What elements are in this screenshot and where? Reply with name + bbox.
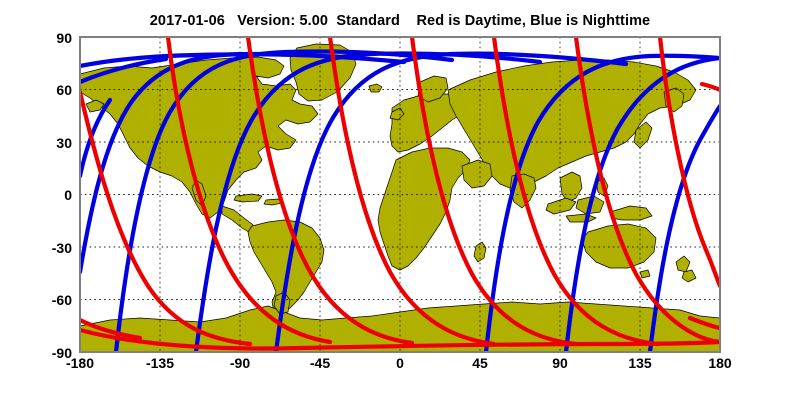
xtick--180: -180	[54, 355, 106, 371]
xtick--45: -45	[294, 355, 346, 371]
xtick-180: 180	[694, 355, 746, 371]
ytick--30: -30	[18, 240, 72, 256]
world-terminator-map	[0, 0, 800, 400]
xtick--90: -90	[214, 355, 266, 371]
xtick-135: 135	[614, 355, 666, 371]
ytick-60: 60	[18, 82, 72, 98]
ytick-30: 30	[18, 135, 72, 151]
xtick--135: -135	[134, 355, 186, 371]
xtick-0: 0	[374, 355, 426, 371]
xtick-45: 45	[454, 355, 506, 371]
xtick-90: 90	[534, 355, 586, 371]
ytick-90: 90	[18, 30, 72, 46]
ytick--60: -60	[18, 292, 72, 308]
ytick-0: 0	[18, 187, 72, 203]
